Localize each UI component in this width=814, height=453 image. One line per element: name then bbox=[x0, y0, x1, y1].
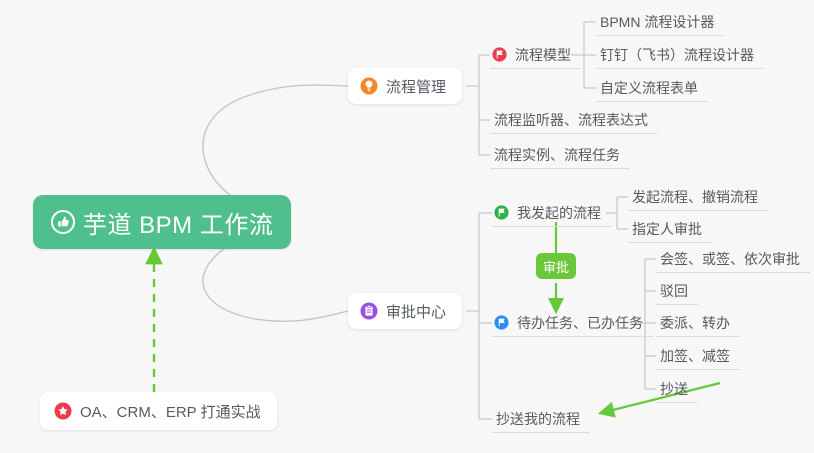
lightbulb-icon bbox=[360, 77, 378, 95]
node-label: BPMN 流程设计器 bbox=[600, 12, 714, 32]
node-label: 抄送 bbox=[660, 379, 688, 399]
node-label: 委派、转办 bbox=[660, 313, 730, 333]
node-label: 待办任务、已办任务 bbox=[517, 313, 643, 333]
node-my-initiated-process[interactable]: 我发起的流程 bbox=[492, 199, 611, 227]
node-cc-to-me-process[interactable]: 抄送我的流程 bbox=[492, 405, 590, 433]
node-countersign[interactable]: 会签、或签、依次审批 bbox=[656, 245, 810, 273]
node-label: 会签、或签、依次审批 bbox=[660, 249, 800, 269]
node-dingtalk-feishu-designer[interactable]: 钉钉（飞书）流程设计器 bbox=[596, 41, 764, 69]
node-label: 流程监听器、流程表达式 bbox=[494, 110, 648, 130]
root-node[interactable]: 芋道 BPM 工作流 bbox=[33, 195, 291, 249]
node-label: 我发起的流程 bbox=[517, 203, 601, 223]
node-start-cancel-process[interactable]: 发起流程、撤销流程 bbox=[628, 183, 768, 211]
node-label: 抄送我的流程 bbox=[496, 409, 580, 429]
node-bpmn-designer[interactable]: BPMN 流程设计器 bbox=[596, 8, 724, 36]
node-label: 流程实例、流程任务 bbox=[494, 145, 620, 165]
flag-icon bbox=[492, 47, 507, 62]
branch-label: 审批中心 bbox=[386, 301, 446, 322]
flag-icon bbox=[494, 315, 509, 330]
node-todo-done-tasks[interactable]: 待办任务、已办任务 bbox=[492, 309, 653, 337]
annotation-label: 审批 bbox=[543, 257, 569, 276]
node-reject[interactable]: 驳回 bbox=[656, 277, 698, 305]
branch-process-management[interactable]: 流程管理 bbox=[348, 68, 462, 104]
annotation-approval-tag[interactable]: 审批 bbox=[536, 253, 576, 279]
branch-label: 流程管理 bbox=[386, 76, 446, 97]
node-label: 自定义流程表单 bbox=[600, 78, 698, 98]
node-custom-process-form[interactable]: 自定义流程表单 bbox=[596, 74, 708, 102]
node-assignee-approval[interactable]: 指定人审批 bbox=[628, 215, 712, 243]
clipboard-icon bbox=[360, 302, 378, 320]
node-label: 发起流程、撤销流程 bbox=[632, 187, 758, 207]
mindmap-canvas: 芋道 BPM 工作流 流程管理 流程模型 BPMN 流程设计器 钉钉（飞书）流程… bbox=[0, 0, 814, 453]
node-label: 流程模型 bbox=[515, 45, 571, 65]
node-process-model[interactable]: 流程模型 bbox=[490, 41, 581, 69]
node-label: 钉钉（飞书）流程设计器 bbox=[600, 45, 754, 65]
flag-icon bbox=[494, 205, 509, 220]
node-label: OA、CRM、ERP 打通实战 bbox=[80, 401, 261, 422]
branch-approval-center[interactable]: 审批中心 bbox=[348, 293, 462, 329]
node-label: 驳回 bbox=[660, 281, 688, 301]
node-carbon-copy[interactable]: 抄送 bbox=[656, 375, 698, 403]
node-process-instance[interactable]: 流程实例、流程任务 bbox=[490, 141, 630, 169]
thumbs-up-icon bbox=[51, 210, 75, 234]
node-label: 指定人审批 bbox=[632, 219, 702, 239]
node-label: 加签、减签 bbox=[660, 346, 730, 366]
root-label: 芋道 BPM 工作流 bbox=[83, 205, 273, 240]
node-delegate-transfer[interactable]: 委派、转办 bbox=[656, 309, 740, 337]
node-add-remove-sign[interactable]: 加签、减签 bbox=[656, 342, 740, 370]
node-process-listener[interactable]: 流程监听器、流程表达式 bbox=[490, 106, 658, 134]
floating-node-integration[interactable]: OA、CRM、ERP 打通实战 bbox=[40, 392, 277, 430]
star-icon bbox=[54, 402, 72, 420]
